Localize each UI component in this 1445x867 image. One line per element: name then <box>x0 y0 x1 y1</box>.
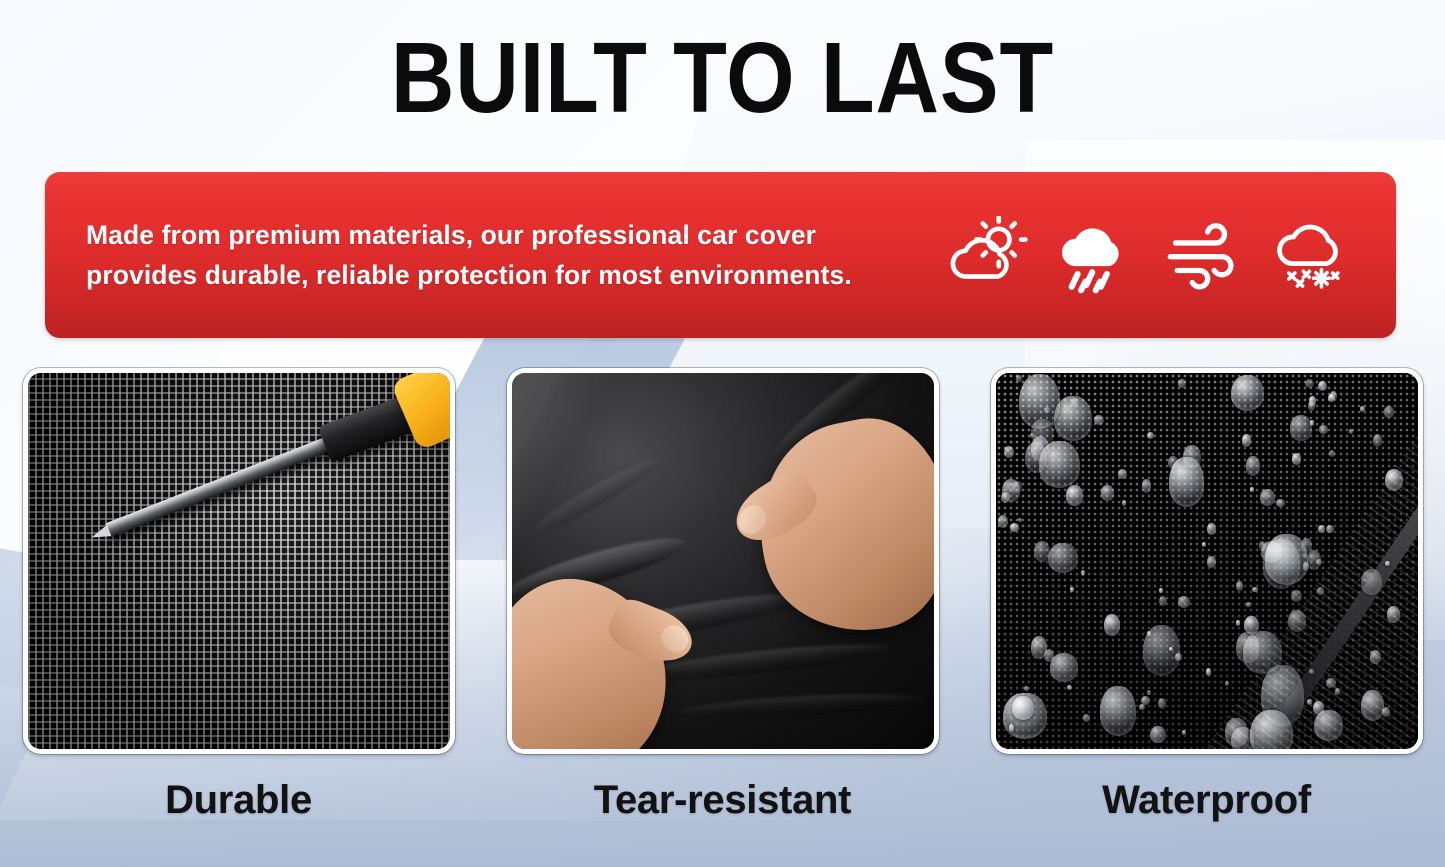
water-droplet <box>1387 606 1400 622</box>
water-droplet <box>1250 710 1293 749</box>
feature-label-tear-resistant-cell: Tear-resistant <box>507 762 939 823</box>
water-droplet <box>1104 614 1120 636</box>
partly-cloudy-icon <box>942 216 1028 294</box>
water-droplet <box>1066 485 1084 506</box>
water-beads-on-fabric-photo <box>996 373 1418 749</box>
water-droplet <box>1316 559 1322 566</box>
feature-label-waterproof: Waterproof <box>991 778 1423 823</box>
feature-label-tear-resistant: Tear-resistant <box>507 778 939 823</box>
rain-cloud-icon <box>1051 216 1137 294</box>
water-droplet <box>1231 375 1264 411</box>
water-droplet <box>1142 479 1152 492</box>
weather-icon-group <box>925 216 1396 294</box>
water-droplet <box>1326 678 1336 688</box>
water-droplet <box>1244 616 1259 634</box>
water-droplet <box>1019 374 1060 429</box>
water-droplet <box>1004 446 1014 458</box>
water-droplet <box>1169 457 1205 507</box>
feature-label-durable-cell: Durable <box>23 762 455 823</box>
water-droplet <box>1329 450 1335 457</box>
water-droplet <box>1292 453 1301 464</box>
water-droplet <box>1169 647 1173 652</box>
water-droplet <box>1252 587 1257 592</box>
water-droplet <box>1122 500 1126 505</box>
feature-label-waterproof-cell: Waterproof <box>991 762 1423 823</box>
water-droplet <box>1360 406 1365 411</box>
water-droplet <box>1242 434 1251 447</box>
water-droplet <box>1361 690 1384 722</box>
hands-stretching-black-sheet-photo <box>512 373 934 749</box>
water-droplet <box>1305 379 1313 389</box>
wind-icon <box>1160 216 1246 294</box>
water-droplet <box>1288 610 1305 632</box>
water-droplet <box>1025 442 1047 474</box>
water-droplet <box>1328 394 1335 402</box>
water-droplet <box>1031 636 1047 659</box>
water-droplet <box>1206 668 1211 675</box>
water-droplet <box>1139 704 1144 711</box>
water-droplet <box>1147 690 1151 695</box>
water-droplet <box>1067 685 1072 690</box>
water-droplet <box>1246 602 1251 607</box>
water-droplet <box>1265 534 1309 585</box>
water-droplet <box>1291 590 1301 601</box>
water-droplet <box>1225 681 1229 686</box>
water-droplet <box>1024 686 1029 691</box>
water-droplet <box>1236 620 1241 625</box>
water-droplet <box>1250 487 1255 492</box>
water-droplet <box>1147 432 1154 439</box>
photo-frame <box>23 368 455 754</box>
water-droplet <box>1101 485 1114 500</box>
water-droplet <box>1310 420 1315 425</box>
water-droplet <box>1385 469 1403 492</box>
water-droplet <box>1307 699 1312 705</box>
water-droplet <box>1100 686 1136 735</box>
water-droplet <box>1385 561 1390 567</box>
water-droplet <box>1030 433 1034 437</box>
water-droplet <box>1382 707 1390 717</box>
screwdriver-on-woven-fabric-photo <box>28 373 450 749</box>
water-droplet <box>1314 710 1343 742</box>
water-droplet <box>1070 587 1074 592</box>
water-droplet <box>1243 631 1283 674</box>
water-droplet <box>1318 381 1327 391</box>
water-droplet <box>1326 525 1333 534</box>
water-droplet <box>1207 556 1216 567</box>
water-droplet <box>1290 415 1312 440</box>
water-droplet <box>1001 492 1010 503</box>
water-droplet <box>1370 650 1381 664</box>
water-droplet <box>1361 569 1383 595</box>
infographic-stage: BUILT TO LAST Made from premium material… <box>0 0 1445 867</box>
photo-frame <box>991 368 1423 754</box>
feature-card-row <box>0 368 1445 754</box>
water-droplet <box>1246 456 1260 476</box>
water-droplet <box>1384 406 1395 418</box>
feature-card-waterproof <box>991 368 1423 754</box>
water-droplet <box>1318 525 1325 533</box>
water-droplet <box>1143 625 1180 676</box>
water-droplet <box>1010 523 1019 532</box>
water-droplet <box>1050 653 1078 681</box>
water-droplet <box>998 515 1008 528</box>
promo-banner-text: Made from premium materials, our profess… <box>45 215 925 295</box>
water-droplet <box>1373 434 1382 447</box>
water-droplet <box>1048 543 1078 574</box>
water-droplet <box>1178 379 1186 388</box>
water-droplet <box>1308 401 1315 411</box>
photo-frame <box>507 368 939 754</box>
feature-card-tear-resistant <box>507 368 939 754</box>
feature-label-durable: Durable <box>23 778 455 823</box>
water-droplet <box>1309 669 1314 674</box>
snow-cloud-icon <box>1269 216 1355 294</box>
water-droplet <box>1276 499 1284 508</box>
feature-label-row: Durable Tear-resistant Waterproof <box>0 762 1445 823</box>
water-droplet <box>1083 714 1090 721</box>
water-droplet <box>1319 425 1328 434</box>
page-title: BUILT TO LAST <box>87 26 1359 130</box>
water-droplet <box>1081 570 1085 576</box>
feature-card-durable <box>23 368 455 754</box>
water-droplet <box>1016 375 1023 382</box>
water-droplet <box>1317 587 1324 595</box>
water-droplet <box>1159 596 1167 606</box>
promo-banner: Made from premium materials, our profess… <box>45 172 1396 338</box>
water-droplet <box>1012 696 1033 720</box>
water-droplet <box>1150 726 1166 744</box>
water-droplet <box>1349 429 1353 434</box>
